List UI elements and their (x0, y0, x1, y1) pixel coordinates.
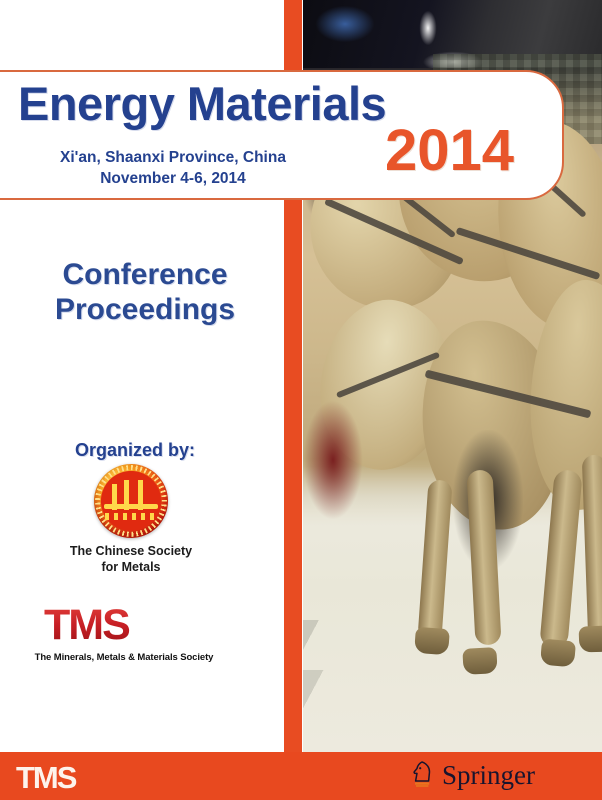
footer-tms-wordmark: TMS (16, 762, 75, 793)
chinese-society-for-metals-emblem-icon (94, 464, 168, 538)
emblem-characters (105, 513, 157, 520)
floor-shadows (303, 600, 602, 752)
csm-name-line1: The Chinese Society (20, 543, 242, 559)
springer-wordmark: Springer (442, 762, 535, 789)
conference-location: Xi'an, Shaanxi Province, China (28, 148, 318, 169)
conference-dates: November 4-6, 2014 (28, 169, 318, 190)
organized-by-label: Organized by: (20, 440, 250, 461)
tms-wordmark-icon: TMS (44, 604, 204, 648)
conference-venue-block: Xi'an, Shaanxi Province, China November … (28, 148, 318, 190)
photo-red-accent-region (303, 400, 363, 520)
springer-knight-icon (411, 761, 435, 789)
springer-logo: Springer (411, 760, 535, 790)
page-title: Energy Materials (18, 80, 438, 127)
csm-name-line2: for Metals (20, 559, 242, 575)
document-type: Conference Proceedings (20, 258, 270, 328)
conference-year: 2014 (385, 122, 514, 180)
book-cover: Energy Materials 2014 Xi'an, Shaanxi Pro… (0, 0, 602, 800)
document-type-line2: Proceedings (20, 293, 270, 328)
document-type-line1: Conference (20, 258, 270, 293)
tms-wordmark-text: TMS (44, 604, 204, 647)
tms-tagline: The Minerals, Metals & Materials Society (20, 652, 228, 663)
emblem-bar (104, 504, 158, 509)
chinese-society-for-metals-name: The Chinese Society for Metals (20, 543, 242, 576)
